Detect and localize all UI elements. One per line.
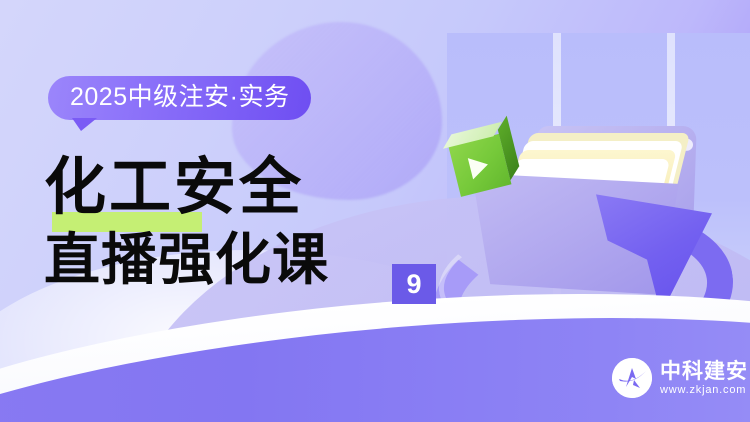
subject-badge-pill: 2025中级注安·实务 bbox=[48, 76, 311, 120]
subject-badge-label: 2025中级注安·实务 bbox=[70, 83, 289, 111]
brand-name: 中科建安 bbox=[660, 360, 748, 383]
brand-logo: 中科建安 www.zkjan.com bbox=[612, 358, 748, 398]
brand-url: www.zkjan.com bbox=[660, 383, 748, 397]
course-banner: 2025中级注安·实务 化工安全 直播强化课 9 中科建安 www.zkjan.… bbox=[0, 0, 750, 422]
subject-badge: 2025中级注安·实务 bbox=[48, 76, 311, 120]
zkjan-circle-icon bbox=[612, 358, 652, 398]
headline-row-1: 化工安全 bbox=[44, 150, 474, 224]
lesson-number-badge: 9 bbox=[392, 264, 436, 304]
brand-logo-text: 中科建安 www.zkjan.com bbox=[660, 360, 748, 397]
subject-badge-tail bbox=[72, 118, 97, 131]
headline-line-1: 化工安全 bbox=[44, 150, 474, 224]
